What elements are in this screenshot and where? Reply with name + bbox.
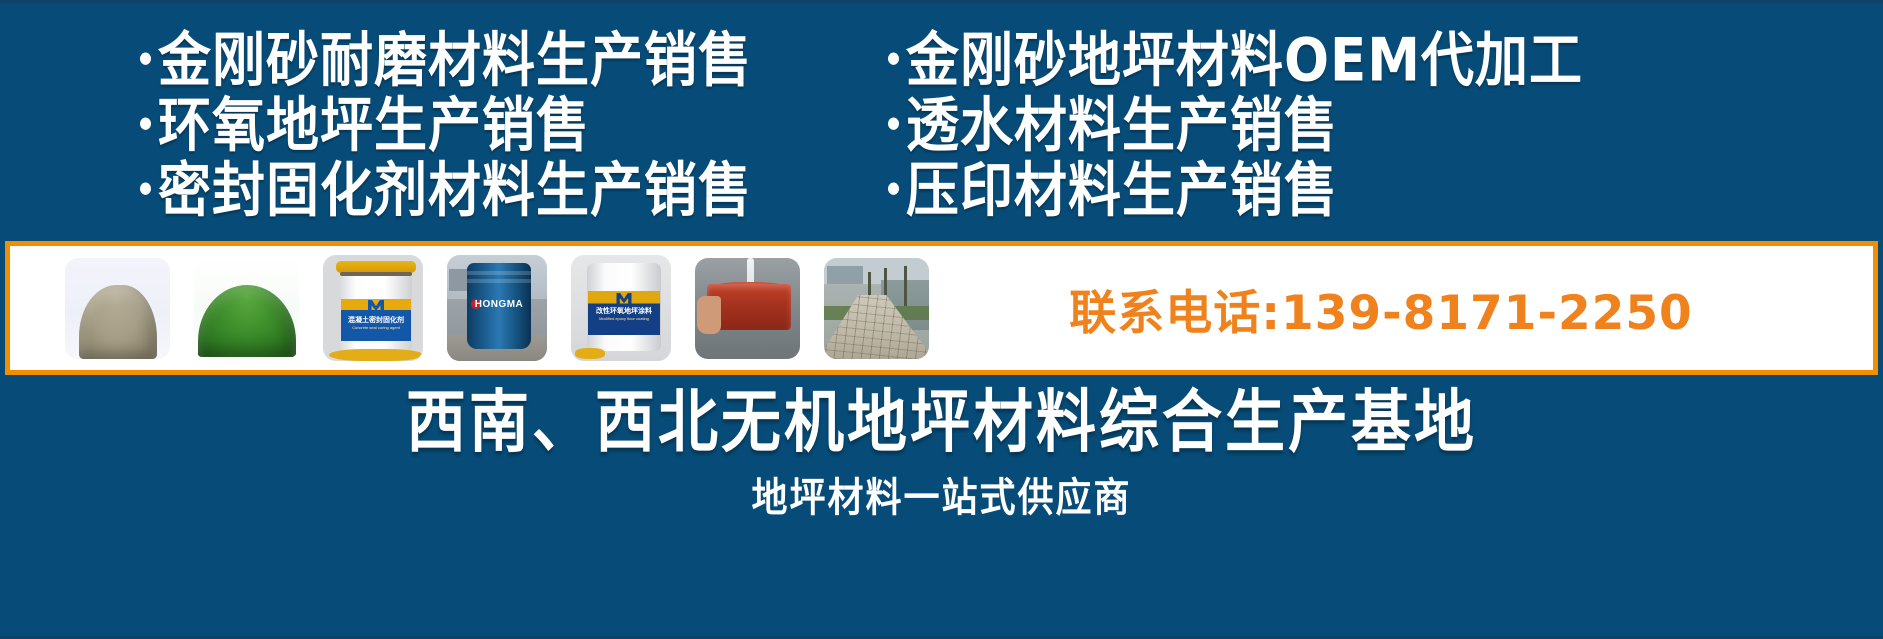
product-strip: 混凝土密封固化剂 Concrete seal curing agent HONG… (5, 241, 1878, 375)
bucket-base-shadow (329, 349, 423, 361)
bucket-label: 改性环氧地坪涂料 Modified epoxy floor coating (588, 291, 660, 335)
sub-headline: 地坪材料一站式供应商 (0, 466, 1883, 523)
service-bullet-lists: 金刚砂耐磨材料生产销售 环氧地坪生产销售 密封固化剂材料生产销售 金刚砂地坪材料… (0, 29, 1883, 237)
bullet-label: 金刚砂耐磨材料生产销售 (158, 29, 752, 93)
bullet-column-right: 金刚砂地坪材料OEM代加工 透水材料生产销售 压印材料生产销售 (870, 29, 1883, 224)
contact-phone[interactable]: 联系电话:139-8171-2250 (929, 274, 1873, 343)
bucket-label-en: Concrete seal curing agent (343, 325, 409, 330)
product-thumb-permeable-paver (695, 258, 800, 359)
bucket-label: 混凝土密封固化剂 Concrete seal curing agent (341, 299, 411, 341)
product-thumb-green-powder (194, 258, 299, 359)
product-thumb-stamped-walkway (824, 258, 929, 359)
bullet-item: 压印材料生产销售 (888, 159, 1883, 223)
drum-ring (467, 279, 531, 283)
product-thumb-hongma-drum: HONGMA (447, 255, 547, 361)
bullet-label: 压印材料生产销售 (906, 159, 1338, 223)
bullet-dot-icon (140, 53, 151, 65)
tree (904, 266, 907, 306)
bucket-label-en: Modified epoxy floor coating (589, 316, 659, 321)
bullet-item: 密封固化剂材料生产销售 (140, 159, 870, 223)
hand (697, 296, 721, 334)
bullet-column-left: 金刚砂耐磨材料生产销售 环氧地坪生产销售 密封固化剂材料生产销售 (0, 29, 870, 224)
bucket-label-cn: 改性环氧地坪涂料 (589, 307, 659, 315)
background-building (827, 266, 863, 284)
bucket-base-shadow (575, 348, 605, 359)
bullet-label: 环氧地坪生产销售 (158, 94, 590, 158)
brand-m-logo-icon (368, 300, 384, 314)
product-thumbnail-list: 混凝土密封固化剂 Concrete seal curing agent HONG… (10, 255, 929, 361)
bullet-item: 金刚砂耐磨材料生产销售 (140, 29, 870, 93)
bullet-label: 密封固化剂材料生产销售 (158, 159, 752, 223)
bullet-item: 金刚砂地坪材料OEM代加工 (888, 29, 1883, 93)
bullet-dot-icon (140, 118, 151, 130)
bullet-item: 透水材料生产销售 (888, 94, 1883, 158)
bucket-rim (340, 272, 412, 276)
brand-m-logo-icon (617, 293, 632, 306)
product-thumb-concrete-sealer-bucket: 混凝土密封固化剂 Concrete seal curing agent (323, 255, 423, 361)
drum-ring (467, 271, 531, 275)
bullet-dot-icon (888, 118, 899, 130)
bucket-label-cn: 混凝土密封固化剂 (343, 316, 409, 324)
advertising-banner: 金刚砂耐磨材料生产销售 环氧地坪生产销售 密封固化剂材料生产销售 金刚砂地坪材料… (0, 0, 1883, 639)
bullet-item: 环氧地坪生产销售 (140, 94, 870, 158)
bullet-label: 金刚砂地坪材料OEM代加工 (906, 29, 1583, 93)
main-headline: 西南、西北无机地坪材料综合生产基地 (0, 384, 1883, 462)
bullet-dot-icon (888, 53, 899, 65)
drum-brand-label: HONGMA (469, 299, 529, 310)
bullet-dot-icon (888, 183, 899, 195)
product-thumb-emery-powder (65, 258, 170, 359)
bullet-dot-icon (140, 183, 151, 195)
bullet-label: 透水材料生产销售 (906, 94, 1338, 158)
product-thumb-epoxy-coating-bucket: 改性环氧地坪涂料 Modified epoxy floor coating (571, 255, 671, 361)
